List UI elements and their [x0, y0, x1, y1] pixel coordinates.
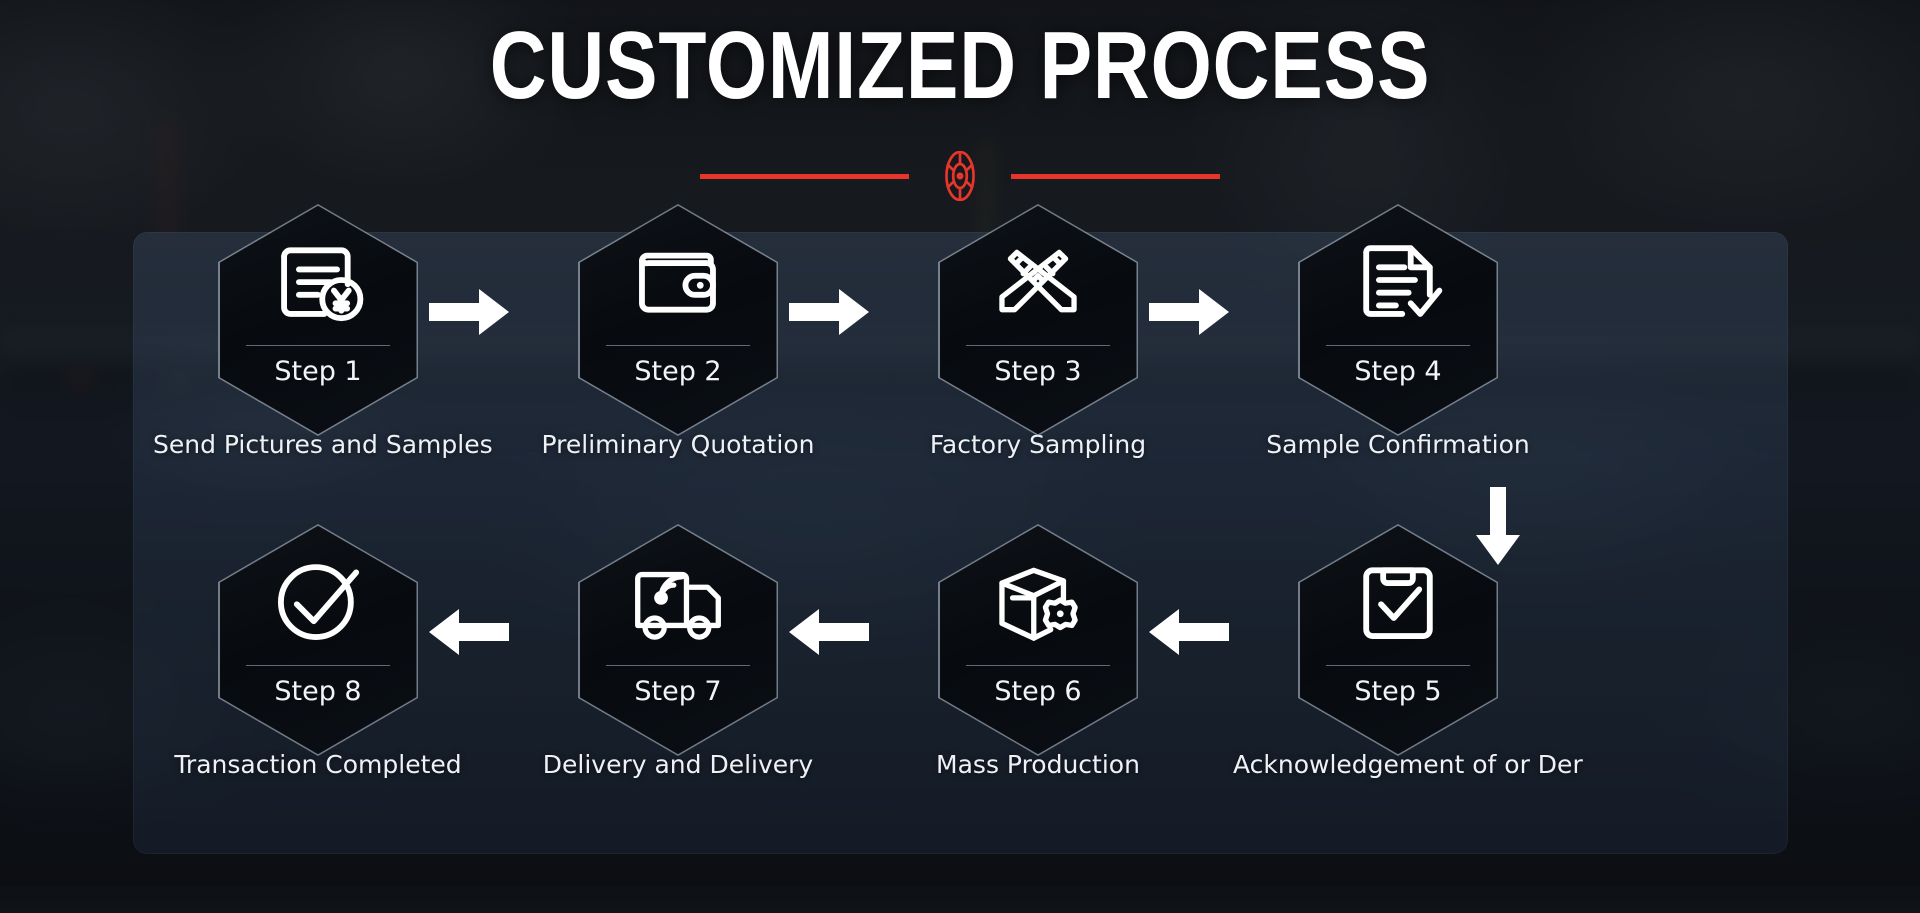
- arrow-step1-step2: [429, 289, 509, 335]
- step-7-rule: [606, 665, 750, 666]
- process-step-8[interactable]: Step 8 Transaction Completed: [193, 524, 443, 779]
- step-4-hexagon: Step 4: [1298, 204, 1498, 424]
- step-5-number: Step 5: [1298, 674, 1498, 709]
- clipboard-check-icon: [1345, 547, 1451, 653]
- step-1-rule: [246, 345, 390, 346]
- header: CUSTOMIZED PROCESS: [0, 0, 1920, 215]
- process-step-1[interactable]: Step 1 Send Pictures and Samples: [193, 204, 443, 459]
- title-divider: [700, 152, 1220, 200]
- step-5-hexagon: Step 5: [1298, 524, 1498, 744]
- box-gear-icon: [985, 547, 1091, 653]
- step-3-number: Step 3: [938, 354, 1138, 389]
- step-7-number: Step 7: [578, 674, 778, 709]
- step-6-rule: [966, 665, 1110, 666]
- step-8-rule: [246, 665, 390, 666]
- ruler-pencil-icon: [985, 227, 1091, 333]
- arrow-step6-step7: [789, 609, 869, 655]
- step-4-rule: [1326, 345, 1470, 346]
- document-check-icon: [1345, 227, 1451, 333]
- wheel-rim-icon: [935, 151, 985, 201]
- step-4-number: Step 4: [1298, 354, 1498, 389]
- step-3-hexagon: Step 3: [938, 204, 1138, 424]
- document-invoice-yen-icon: [265, 227, 371, 333]
- step-8-hexagon: Step 8: [218, 524, 418, 744]
- process-step-4[interactable]: Step 4 Sample Confirmation: [1273, 204, 1523, 459]
- process-step-2[interactable]: Step 2 Preliminary Quotation: [553, 204, 803, 459]
- process-step-3[interactable]: Step 3 Factory Sampling: [913, 204, 1163, 459]
- process-step-5[interactable]: Step 5 Acknowledgement of or Der: [1273, 524, 1523, 779]
- arrow-step2-step3: [789, 289, 869, 335]
- arrow-step3-step4: [1149, 289, 1229, 335]
- step-1-number: Step 1: [218, 354, 418, 389]
- divider-rule-right: [1011, 174, 1220, 179]
- wallet-icon: [625, 227, 731, 333]
- step-6-number: Step 6: [938, 674, 1138, 709]
- divider-rule-left: [700, 174, 909, 179]
- process-panel: Step 1 Send Pictures and Samples: [133, 232, 1788, 854]
- step-5-rule: [1326, 665, 1470, 666]
- page-title: CUSTOMIZED PROCESS: [173, 18, 1747, 114]
- arrow-step5-step6: [1149, 609, 1229, 655]
- step-1-hexagon: Step 1: [218, 204, 418, 424]
- delivery-truck-icon: [625, 547, 731, 653]
- step-2-rule: [606, 345, 750, 346]
- step-3-rule: [966, 345, 1110, 346]
- step-8-number: Step 8: [218, 674, 418, 709]
- process-row-top: Step 1 Send Pictures and Samples: [133, 204, 1788, 459]
- step-2-hexagon: Step 2: [578, 204, 778, 424]
- process-step-6[interactable]: Step 6 Mass Production: [913, 524, 1163, 779]
- circle-check-icon: [265, 547, 371, 653]
- step-2-number: Step 2: [578, 354, 778, 389]
- process-row-bottom: Step 8 Transaction Completed: [133, 524, 1788, 779]
- arrow-step7-step8: [429, 609, 509, 655]
- step-6-hexagon: Step 6: [938, 524, 1138, 744]
- step-7-hexagon: Step 7: [578, 524, 778, 744]
- process-step-7[interactable]: Step 7 Delivery and Delivery: [553, 524, 803, 779]
